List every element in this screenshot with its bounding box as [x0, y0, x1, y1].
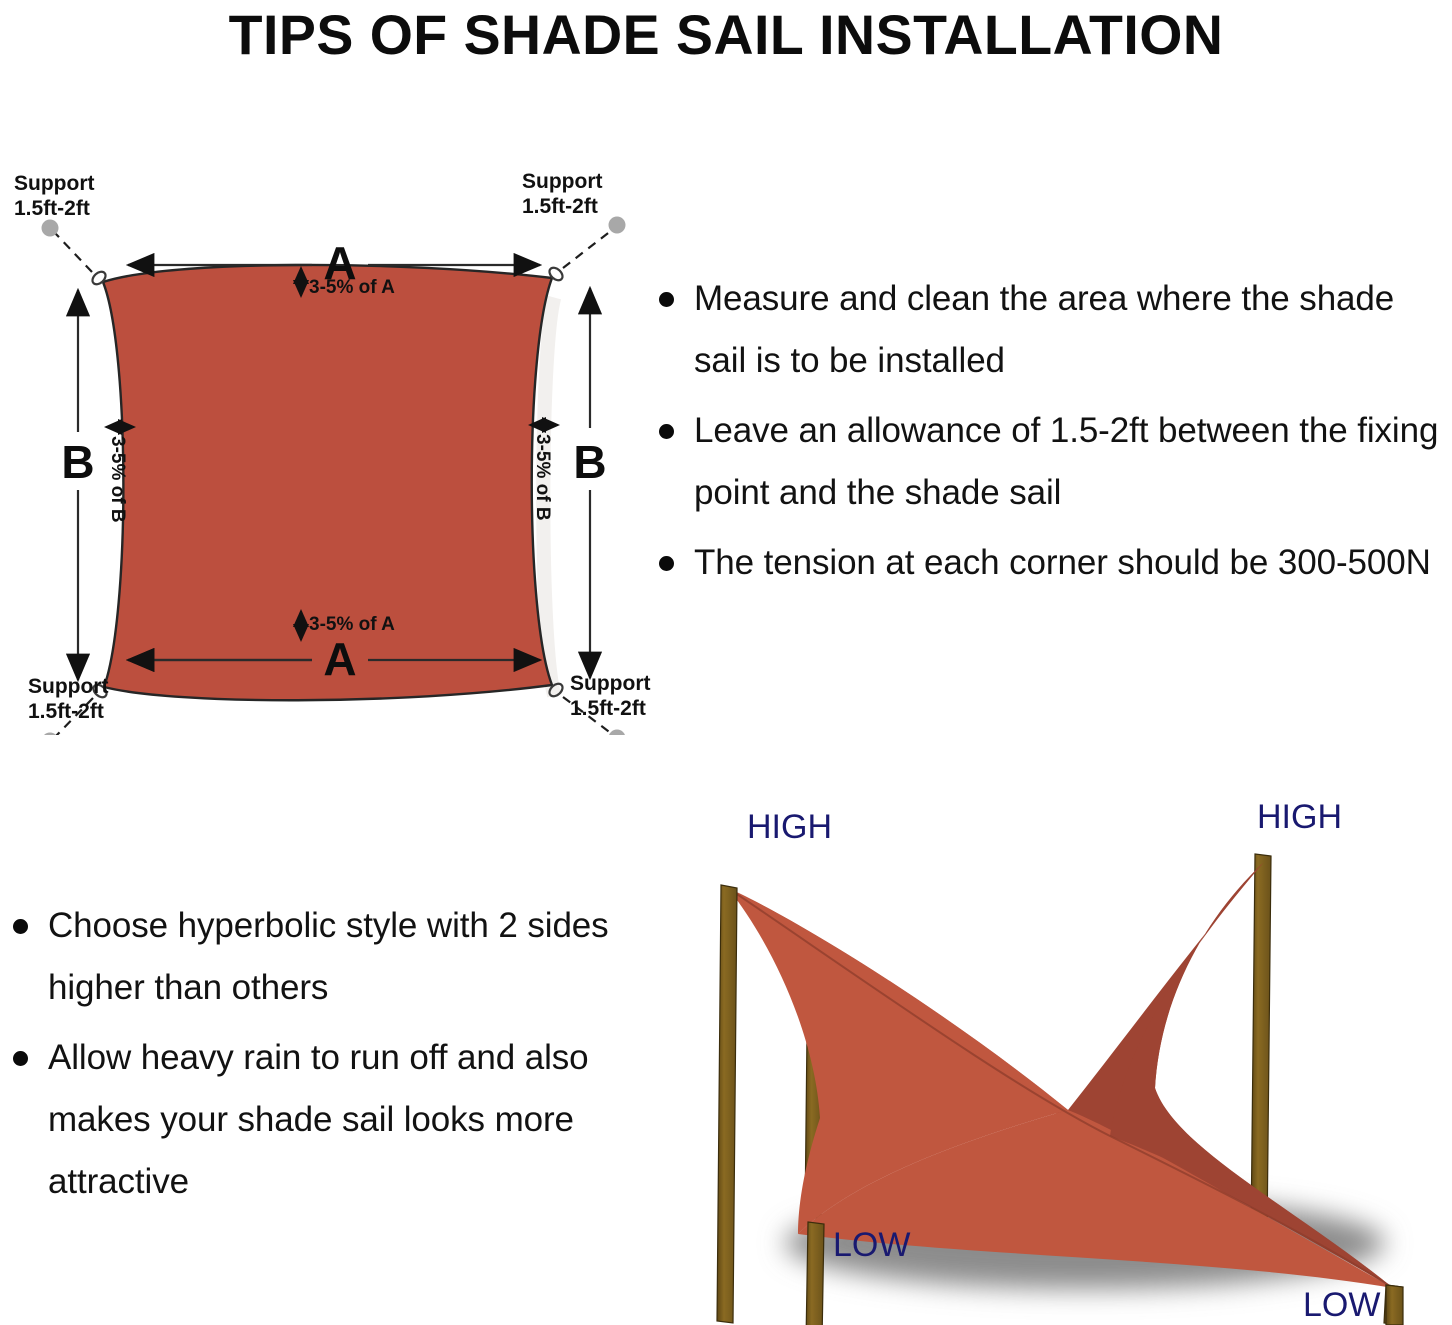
support-label-top-right-line1: Support	[522, 170, 602, 193]
hyperbolic-sail-illustration: HIGH HIGH LOW LOW	[655, 788, 1452, 1325]
support-dot-top-right	[609, 217, 626, 234]
support-label-top-left-line1: Support	[14, 172, 94, 195]
support-label-bottom-left-l1: Support	[28, 675, 108, 698]
post-high-right	[1251, 854, 1271, 1238]
bullet-dot-icon	[13, 1051, 28, 1066]
curve-label-left: 3-5% of B	[107, 436, 128, 523]
curve-label-bottom: 3-5% of A	[309, 614, 395, 635]
page-title: TIPS OF SHADE SAIL INSTALLATION	[7, 2, 1444, 67]
dimension-b-right: B	[573, 288, 606, 678]
bullet-dot-icon	[659, 292, 674, 307]
label-low-right: LOW	[1303, 1286, 1380, 1324]
dimension-label-b-left: B	[61, 436, 94, 488]
post-high-left	[717, 885, 737, 1323]
list-item: Leave an allowance of 1.5-2ft between th…	[650, 400, 1450, 524]
label-high-right: HIGH	[1257, 798, 1342, 836]
infographic-page: TIPS OF SHADE SAIL INSTALLATION	[0, 0, 1452, 1325]
curve-label-right: 3-5% of B	[532, 434, 553, 521]
label-low-left: LOW	[833, 1226, 910, 1264]
dimension-label-a-bottom: A	[323, 633, 356, 685]
label-high-left: HIGH	[747, 808, 832, 846]
list-item: Allow heavy rain to run off and also mak…	[4, 1027, 624, 1213]
support-dot-bottom-right	[609, 730, 626, 736]
curve-label-top: 3-5% of A	[309, 277, 395, 298]
support-dot-top-left	[42, 220, 59, 237]
list-item-text: Allow heavy rain to run off and also mak…	[48, 1038, 589, 1201]
dimension-label-b-right: B	[573, 436, 606, 488]
dimension-b-left: B	[61, 290, 94, 680]
list-item: Choose hyperbolic style with 2 sides hig…	[4, 895, 624, 1019]
support-label-bottom-right-l1: Support	[570, 672, 650, 695]
support-label-top-right-line2: 1.5ft-2ft	[522, 195, 598, 218]
support-label-bottom-left-l2: 1.5ft-2ft	[28, 700, 104, 723]
post-low-left-front	[805, 1222, 824, 1325]
list-item-text: Measure and clean the area where the sha…	[694, 279, 1394, 380]
support-label-bottom-right-l2: 1.5ft-2ft	[570, 697, 646, 720]
list-item-text: Choose hyperbolic style with 2 sides hig…	[48, 906, 609, 1007]
tips-list-installation: Measure and clean the area where the sha…	[650, 268, 1450, 602]
list-item: The tension at each corner should be 300…	[650, 532, 1450, 594]
list-item-text: The tension at each corner should be 300…	[694, 543, 1431, 582]
list-item-text: Leave an allowance of 1.5-2ft between th…	[694, 411, 1438, 512]
list-item: Measure and clean the area where the sha…	[650, 268, 1450, 392]
support-label-top-left-line2: 1.5ft-2ft	[14, 197, 90, 220]
tips-list-hyperbolic: Choose hyperbolic style with 2 sides hig…	[4, 895, 624, 1221]
bullet-dot-icon	[659, 556, 674, 571]
bullet-dot-icon	[13, 919, 28, 934]
curve-depth-right: 3-5% of B	[530, 425, 558, 521]
top-diagram: Support 1.5ft-2ft Support 1.5ft-2ft Supp…	[0, 160, 660, 735]
bullet-dot-icon	[659, 424, 674, 439]
post-low-right	[1384, 1285, 1403, 1325]
